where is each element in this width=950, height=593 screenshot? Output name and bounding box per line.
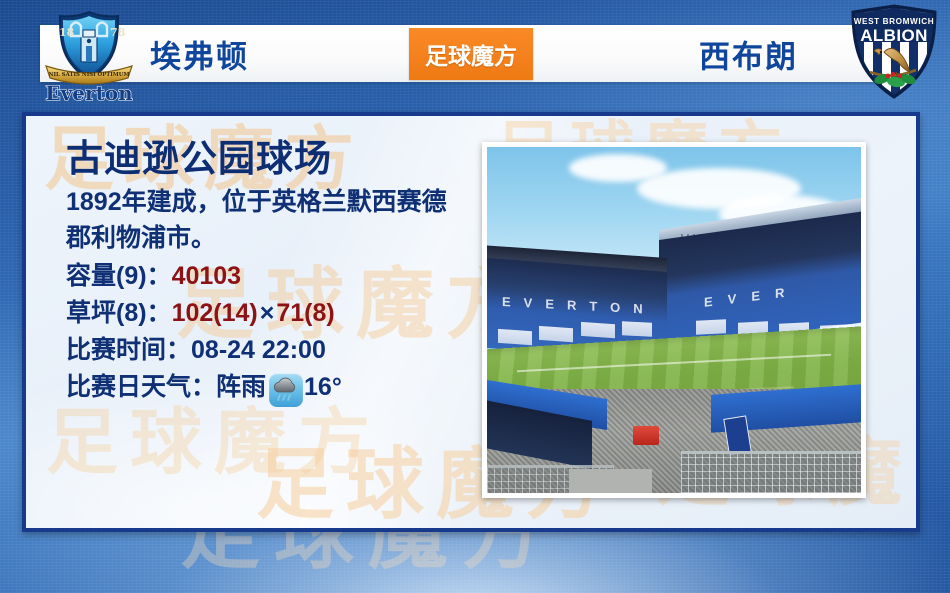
wba-text-line1: WEST BROMWICH [854,17,935,26]
pitch-separator: × [258,299,277,327]
cloud [569,154,666,182]
west-bromwich-albion-crest: WEST BROMWICH ALBION [844,0,944,104]
capacity-row: 容量(9)：40103 [66,258,486,295]
capacity-label: 容量(9)： [66,262,172,290]
match-time-value: 08-24 22:00 [191,336,326,364]
stadium-title: 古迪逊公园球场 [66,138,486,179]
capacity-value: 40103 [172,262,242,290]
crest-motto: NIL SATIS NISI OPTIMUM [49,72,130,78]
rain-shower-icon [269,373,303,407]
crest-wordmark: Everton [45,81,133,105]
crest-year-left: 18 [59,26,75,39]
stadium-info: 古迪逊公园球场 1892年建成，位于英格兰默西赛德郡利物浦市。 容量(9)：40… [66,138,486,406]
seat-block [622,321,652,336]
brand-logo[interactable]: 足球魔方 [409,28,533,80]
seat-block [581,322,615,338]
match-preview-card: 足球魔方 埃弗顿 西布朗 足球魔方 [0,0,950,593]
weather-label: 比赛日天气： [66,369,216,406]
weather-temperature: 16° [304,369,342,406]
weather-condition: 阵雨 [216,369,266,406]
red-equipment-box [633,426,659,445]
seat-block [498,329,532,345]
goodison-park-photo-frame: EVER EVERTON [482,142,866,498]
pitch-width: 71(8) [276,299,334,327]
pitch-label: 草坪(8)： [66,299,172,327]
stadium-description: 1892年建成，位于英格兰默西赛德郡利物浦市。 [66,185,466,256]
fence-right [681,451,861,493]
goodison-park-photo: EVER EVERTON [487,147,861,493]
pitch-length: 102(14) [172,299,258,327]
wba-text-line2: ALBION [860,26,928,45]
away-team-name: 西布朗 [699,31,798,76]
match-time-label: 比赛时间： [66,336,191,364]
brand-logo-text: 足球魔方 [425,37,517,71]
home-team-name: 埃弗顿 [150,31,249,76]
match-time-row: 比赛时间：08-24 22:00 [66,332,486,369]
pitch-row: 草坪(8)：102(14)×71(8) [66,295,486,332]
weather-row: 比赛日天气：阵雨 16° [66,369,486,406]
crest-year-right: 78 [110,26,126,39]
seat-block [539,326,573,342]
everton-crest: 18 78 NIL SATIS NISI OPTIMUM Everton [38,4,140,106]
seat-block [696,319,726,334]
panel-watermark: 足球魔方 [46,406,382,478]
steps [569,469,651,493]
